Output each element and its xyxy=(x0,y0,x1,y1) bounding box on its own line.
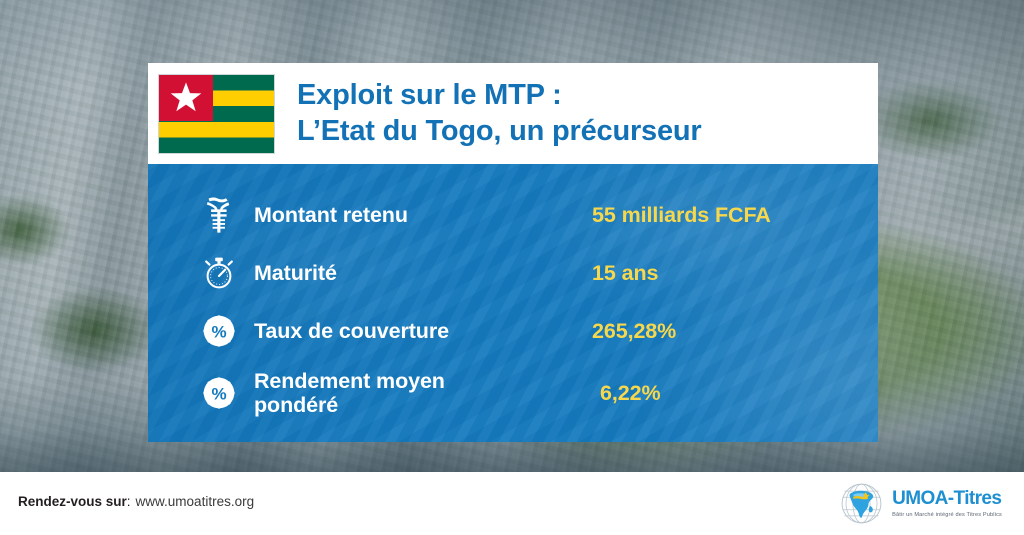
stat-label: Taux de couverture xyxy=(254,319,586,343)
footer-cta: Rendez-vous sur:www.umoatitres.org xyxy=(18,494,254,509)
percent-badge-icon: % xyxy=(198,315,240,347)
stat-label: Rendement moyen pondéré xyxy=(254,369,586,417)
footer-bar: Rendez-vous sur:www.umoatitres.org UMOA-… xyxy=(0,472,1024,535)
footer-separator: : xyxy=(127,494,131,509)
stat-row: % Taux de couverture 265,28% xyxy=(198,302,878,360)
brand-tagline: Bâtir un Marché intégré des Titres Publi… xyxy=(892,512,1002,518)
stat-row: Montant retenu 55 milliards FCFA xyxy=(198,186,878,244)
percent-badge-icon: % xyxy=(198,377,240,409)
stat-value: 55 milliards FCFA xyxy=(592,203,771,228)
svg-text:%: % xyxy=(211,322,226,341)
stats-list: Montant retenu 55 milliards FCFA xyxy=(148,164,878,426)
stat-row: % Rendement moyen pondéré 6,22% xyxy=(198,360,878,426)
page-title: Exploit sur le MTP : L’Etat du Togo, un … xyxy=(297,78,702,149)
globe-africa-icon xyxy=(838,481,885,526)
footer-url[interactable]: www.umoatitres.org xyxy=(136,494,255,509)
stat-value: 6,22% xyxy=(600,381,660,406)
stat-value: 265,28% xyxy=(592,319,676,344)
flag-canton xyxy=(159,75,213,122)
money-funnel-icon xyxy=(198,196,240,234)
brand-wordmark: UMOA-Titres Bâtir un Marché intégré des … xyxy=(892,489,1002,518)
poster-canvas: Exploit sur le MTP : L’Etat du Togo, un … xyxy=(0,0,1024,535)
stopwatch-icon xyxy=(198,256,240,290)
flag-star-icon xyxy=(169,81,203,115)
title-panel: Exploit sur le MTP : L’Etat du Togo, un … xyxy=(148,63,878,164)
togo-flag-icon xyxy=(158,74,275,154)
footer-cta-label: Rendez-vous sur xyxy=(18,494,127,509)
stats-panel: Montant retenu 55 milliards FCFA xyxy=(148,164,878,442)
stat-value: 15 ans xyxy=(592,261,658,286)
stat-label: Maturité xyxy=(254,261,586,285)
umoa-titres-logo[interactable]: UMOA-Titres Bâtir un Marché intégré des … xyxy=(838,480,1002,526)
svg-text:%: % xyxy=(211,384,226,403)
brand-name: UMOA-Titres xyxy=(892,489,1002,508)
stat-label: Montant retenu xyxy=(254,203,586,227)
stat-row: Maturité 15 ans xyxy=(198,244,878,302)
